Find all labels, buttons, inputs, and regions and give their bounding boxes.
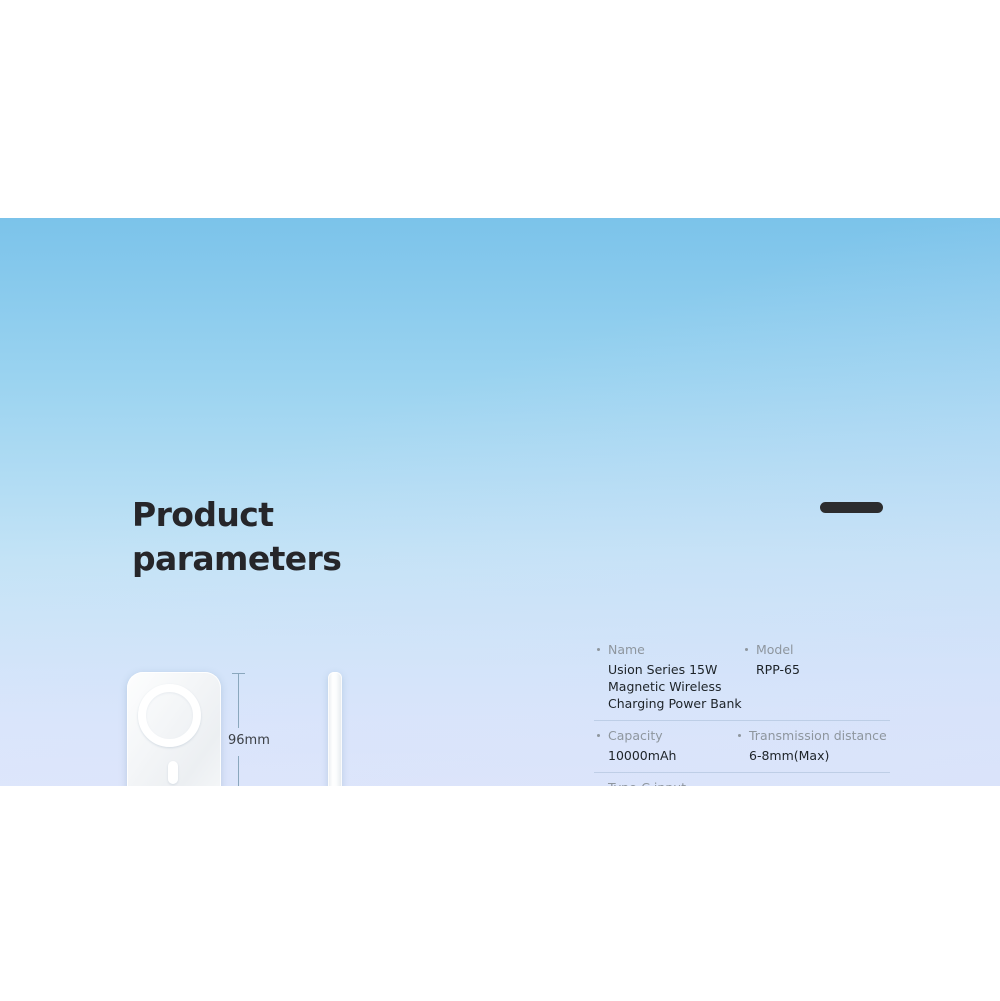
spec-label: Capacity bbox=[594, 727, 742, 745]
indicator-pill-icon bbox=[168, 761, 178, 784]
product-parameters-page: Product parameters 96mm 64mm 18.5mm bbox=[0, 0, 1000, 1001]
spec-cell-transmission-distance: Transmission distance 6-8mm(Max) bbox=[735, 727, 890, 764]
spec-value: 10000mAh bbox=[594, 747, 742, 764]
dash-accent-icon bbox=[820, 502, 883, 513]
spec-value: 6-8mm(Max) bbox=[735, 747, 890, 764]
spec-cell-name: Name bbox=[594, 641, 742, 659]
spec-row: Name Model Usion Series 15W Magnetic Wir… bbox=[594, 636, 890, 721]
page-title-line-1: Product bbox=[132, 493, 552, 537]
spec-label: Transmission distance bbox=[735, 727, 890, 745]
spec-label: Type-C input bbox=[594, 779, 890, 786]
page-title-line-2: parameters bbox=[132, 537, 552, 581]
spec-row: Capacity 10000mAh Transmission distance … bbox=[594, 721, 890, 773]
specification-table: Name Model Usion Series 15W Magnetic Wir… bbox=[594, 636, 890, 786]
spec-cell-model: Model bbox=[742, 641, 890, 659]
dimension-cap-height-top bbox=[232, 673, 245, 674]
spec-label: Name bbox=[594, 641, 742, 659]
gradient-panel: Product parameters 96mm 64mm 18.5mm bbox=[0, 218, 1000, 786]
page-title: Product parameters bbox=[132, 493, 552, 581]
spec-cell-typec-input: Type-C input 5V/3A, 9V/2.23A, 12V/1.67A … bbox=[594, 779, 890, 786]
power-bank-front-view bbox=[127, 672, 221, 786]
dimension-label-height: 96mm bbox=[228, 733, 270, 748]
spec-cell-model-value: RPP-65 bbox=[742, 659, 890, 678]
spec-cell-name-value: Usion Series 15W Magnetic Wireless Charg… bbox=[594, 659, 742, 712]
spec-row: Type-C input 5V/3A, 9V/2.23A, 12V/1.67A … bbox=[594, 773, 890, 786]
magsafe-ring-icon bbox=[138, 684, 201, 747]
spec-label: Model bbox=[742, 641, 890, 659]
spec-value: Usion Series 15W Magnetic Wireless Charg… bbox=[594, 661, 742, 712]
power-bank-side-view bbox=[328, 672, 342, 786]
spec-value: RPP-65 bbox=[742, 661, 890, 678]
spec-cell-capacity: Capacity 10000mAh bbox=[594, 727, 742, 764]
